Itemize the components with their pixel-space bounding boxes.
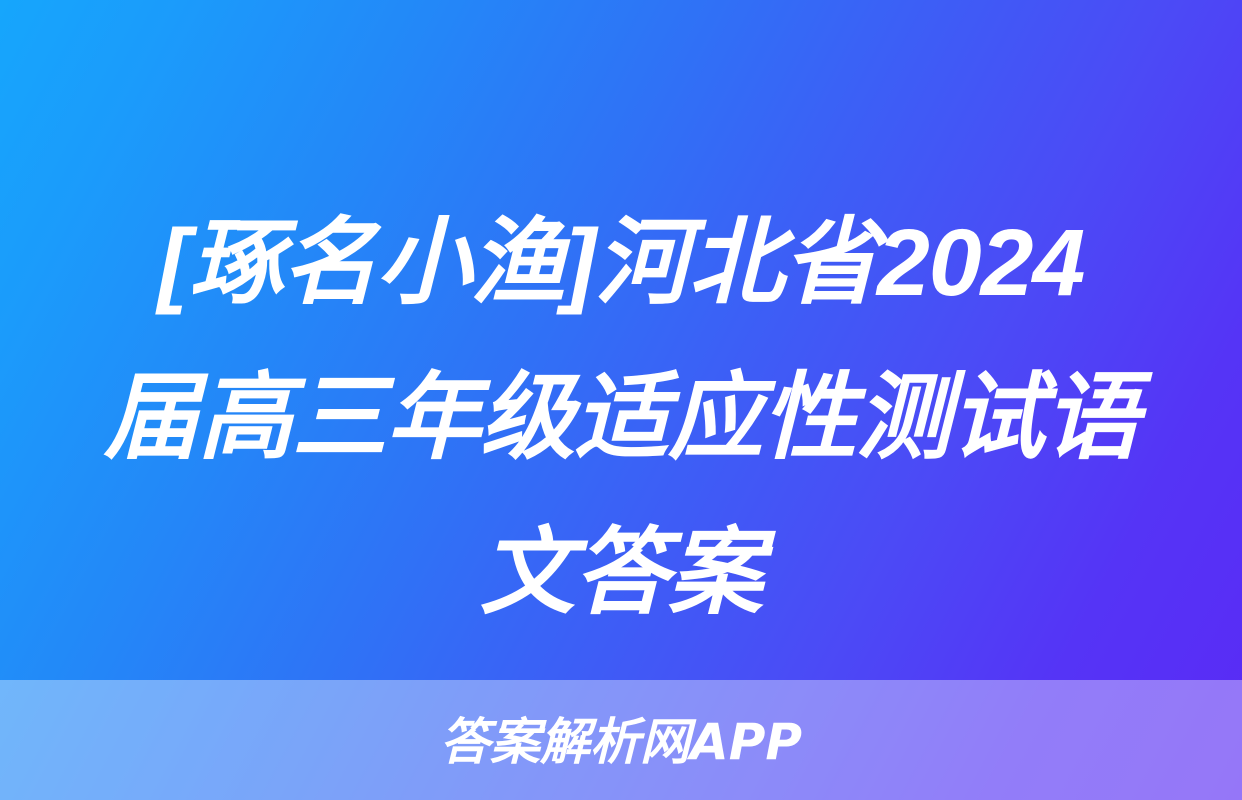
- app-watermark-label: 答案解析网APP: [440, 714, 802, 770]
- footer-watermark-band: 答案解析网APP: [0, 680, 1242, 800]
- title-line-1: [琢名小渔]河北省2024: [96, 186, 1146, 341]
- title-line-3: 文答案: [96, 496, 1146, 651]
- page-title: [琢名小渔]河北省2024 届高三年级适应性测试语 文答案: [0, 186, 1242, 651]
- answer-card: [琢名小渔]河北省2024 届高三年级适应性测试语 文答案 答案解析网APP: [0, 0, 1242, 800]
- title-line-2: 届高三年级适应性测试语: [96, 341, 1146, 496]
